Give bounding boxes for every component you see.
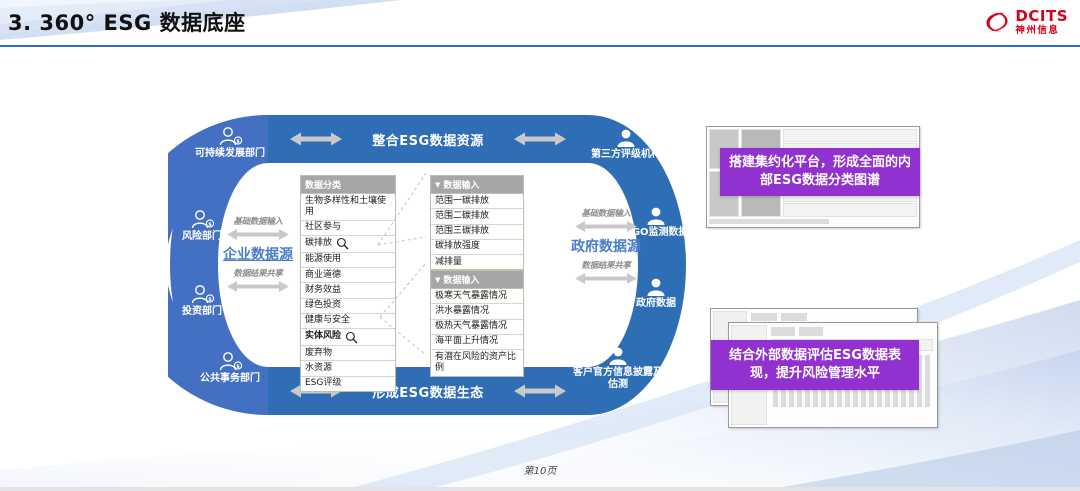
brand-logo: DCITS 神州信息: [984, 6, 1068, 38]
callout-text-2: 结合外部数据评估ESG数据表现，提升风险管理水平: [711, 347, 919, 382]
logo-subtext: 神州信息: [1015, 26, 1068, 36]
page-footer: 第10页: [0, 462, 1080, 477]
callout-block-1: 搭建集约化平台，形成全面的内部ESG数据分类图谱: [706, 126, 922, 234]
page-number: 第10页: [524, 466, 557, 477]
esg-ecosystem-diagram: 整合ESG数据资源 形成ESG数据生态 $ 可持续发展部门 $ 风险部门: [168, 115, 688, 415]
page-header: 3. 360° ESG 数据底座 DCITS 神州信息: [0, 0, 1080, 45]
page-title: 3. 360° ESG 数据底座: [8, 7, 246, 37]
callout-text-1: 搭建集约化平台，形成全面的内部ESG数据分类图谱: [720, 154, 920, 189]
callout-banner-1: 搭建集约化平台，形成全面的内部ESG数据分类图谱: [720, 148, 920, 196]
callout-banner-2: 结合外部数据评估ESG数据表现，提升风险管理水平: [711, 340, 919, 390]
header-divider: [0, 45, 1080, 47]
logo-wordmark: DCITS: [1015, 9, 1068, 24]
connector-lines: [168, 115, 688, 415]
callout-block-2: 结合外部数据评估ESG数据表现，提升风险管理水平: [710, 308, 936, 426]
dcits-swirl-icon: [984, 9, 1010, 35]
